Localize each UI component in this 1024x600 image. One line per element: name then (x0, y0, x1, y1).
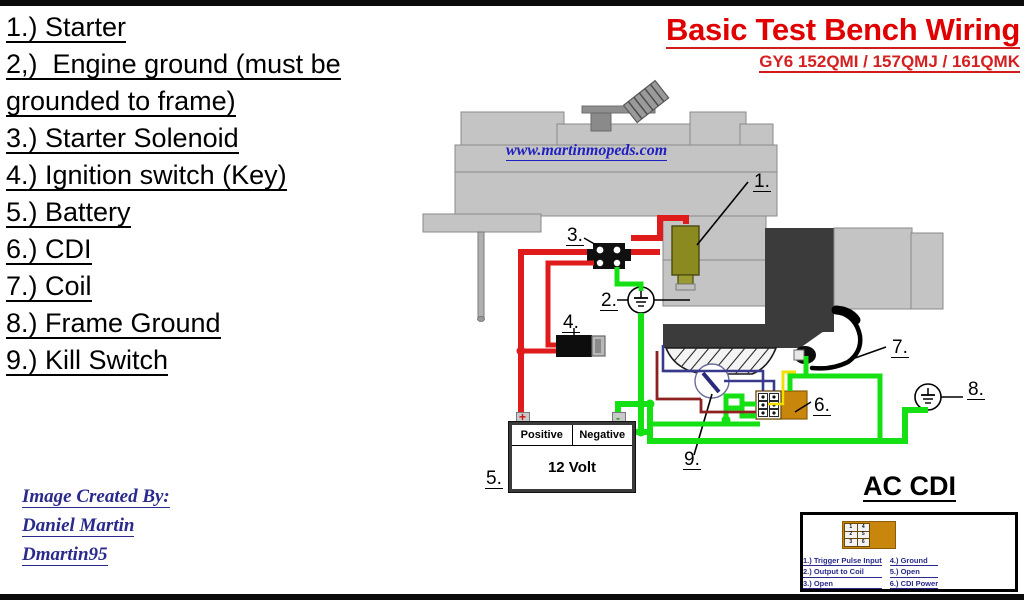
ac-cdi-legend-trigger-pulse-input: 1.) Trigger Pulse Input (803, 556, 882, 566)
ac-cdi-legend-open-5: 5.) Open (890, 567, 938, 577)
ac-cdi-pin-1: 1 (845, 524, 857, 531)
battery-voltage-label: 12 Volt (512, 446, 632, 489)
ac-cdi-pin-2: 2 (845, 532, 857, 539)
ac-cdi-legend-output-to-coil: 2.) Output to Coil (803, 567, 882, 577)
battery-component: Positive Negative 12 Volt (508, 421, 636, 493)
ac-cdi-title: AC CDI (863, 472, 956, 502)
callout-engine-ground: 2. (600, 291, 618, 311)
callout-cdi: 6. (813, 396, 831, 416)
callout-coil: 7. (891, 338, 909, 358)
battery-negative-header: Negative (573, 425, 633, 445)
ac-cdi-pin-5: 5 (858, 532, 870, 539)
callout-battery: 5. (485, 469, 503, 489)
wire-junction-dot-green-2 (637, 428, 646, 437)
ac-cdi-pin-4: 4 (858, 524, 870, 531)
callout-ignition-switch: 4. (562, 313, 580, 333)
wire-junction-dot-green-1 (646, 400, 655, 409)
engine-and-wiring-svg (0, 0, 1024, 600)
wire-junction-dot-red (517, 347, 526, 356)
callout-starter-solenoid: 3. (566, 226, 584, 246)
wire-killswitch-cdi-blue (724, 381, 774, 391)
watermark-url: www.martinmopeds.com (506, 142, 667, 161)
wire-engine-ground-trunk-green (627, 313, 641, 432)
frame-ground-symbol (915, 384, 963, 410)
ac-cdi-legend-cdi-power: 6.) CDI Power (890, 579, 938, 589)
ac-cdi-legend-ground: 4.) Ground (890, 556, 938, 566)
ac-cdi-legend-right-column: 4.) Ground 5.) Open 6.) CDI Power (890, 556, 938, 589)
ac-cdi-legend-left-column: 1.) Trigger Pulse Input 2.) Output to Co… (803, 556, 882, 589)
wiring-diagram-canvas: 1.) Starter 2,) Engine ground (must be g… (0, 0, 1024, 600)
battery-positive-header: Positive (512, 425, 573, 445)
callout-kill-switch: 9. (683, 450, 701, 470)
callout-frame-ground: 8. (967, 380, 985, 400)
ac-cdi-pin-3: 3 (845, 539, 857, 546)
ac-cdi-pin-6: 6 (858, 539, 870, 546)
ac-cdi-legend: 1.) Trigger Pulse Input 2.) Output to Co… (803, 556, 1013, 589)
battery-header-row: Positive Negative (512, 425, 632, 446)
ac-cdi-legend-open-3: 3.) Open (803, 579, 882, 589)
callout-starter: 1. (753, 172, 771, 192)
ac-cdi-connector-pins: 1 4 2 5 3 6 (844, 523, 870, 547)
